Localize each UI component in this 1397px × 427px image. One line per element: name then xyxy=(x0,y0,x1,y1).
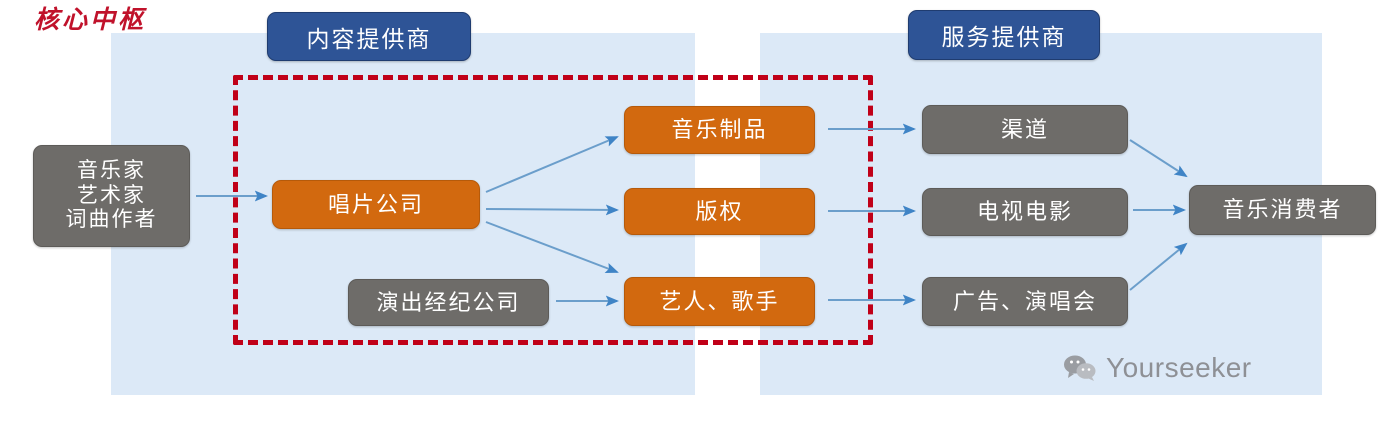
edge-ads-concerts-to-consumer xyxy=(1130,244,1186,290)
node-channel[interactable]: 渠道 xyxy=(922,105,1128,154)
node-artists-singers[interactable]: 艺人、歌手 xyxy=(624,277,815,326)
edge-record-to-copyright xyxy=(486,209,617,210)
node-creators-line-2: 艺术家 xyxy=(77,184,146,209)
edge-record-to-music-products xyxy=(486,137,617,192)
node-ads-concerts-label: 广告、演唱会 xyxy=(953,289,1097,315)
node-artists-singers-label: 艺人、歌手 xyxy=(659,289,779,315)
diagram-canvas: 内容提供商 服务提供商 音乐家 艺术家 词曲作者 核心中枢 xyxy=(0,0,1397,427)
node-record-company[interactable]: 唱片公司 xyxy=(272,180,480,229)
node-record-company-label: 唱片公司 xyxy=(328,192,424,218)
wechat-icon xyxy=(1063,354,1097,382)
node-creators-line-3: 词曲作者 xyxy=(66,208,158,233)
edge-record-to-artists xyxy=(486,222,617,272)
node-performance-agency[interactable]: 演出经纪公司 xyxy=(348,279,549,326)
watermark: Yourseeker xyxy=(1063,352,1252,384)
edge-channel-to-consumer xyxy=(1130,140,1186,176)
node-music-consumer[interactable]: 音乐消费者 xyxy=(1189,185,1376,235)
node-music-products-label: 音乐制品 xyxy=(671,117,767,143)
node-copyright-label: 版权 xyxy=(695,199,743,225)
node-ads-concerts[interactable]: 广告、演唱会 xyxy=(922,277,1128,326)
node-tv-film-label: 电视电影 xyxy=(977,199,1073,225)
node-performance-agency-label: 演出经纪公司 xyxy=(376,290,520,316)
node-tv-film[interactable]: 电视电影 xyxy=(922,188,1128,236)
node-music-products[interactable]: 音乐制品 xyxy=(624,106,815,154)
node-music-consumer-label: 音乐消费者 xyxy=(1222,197,1342,223)
node-channel-label: 渠道 xyxy=(1001,117,1049,143)
node-copyright[interactable]: 版权 xyxy=(624,188,815,235)
watermark-text: Yourseeker xyxy=(1106,352,1252,384)
node-creators[interactable]: 音乐家 艺术家 词曲作者 xyxy=(33,145,190,247)
node-creators-line-1: 音乐家 xyxy=(77,159,146,184)
